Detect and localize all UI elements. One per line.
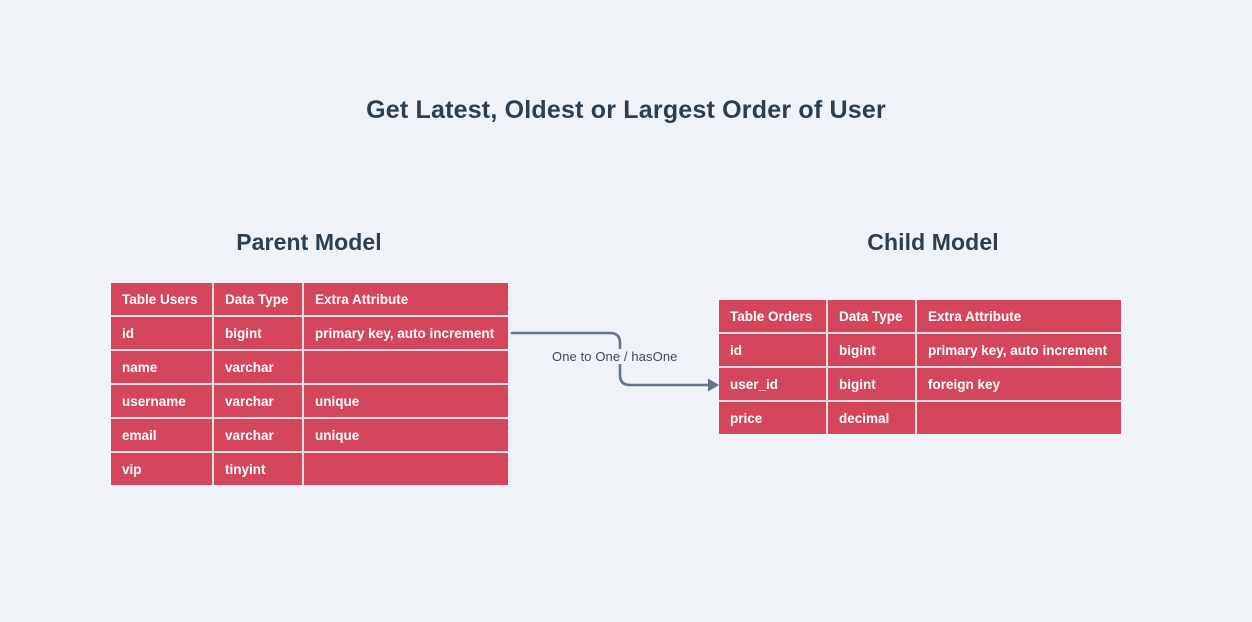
cell-field-name: id bbox=[719, 334, 826, 366]
table-row: vip tinyint bbox=[111, 453, 508, 485]
cell-data-type: bigint bbox=[828, 368, 915, 400]
cell-data-type: bigint bbox=[828, 334, 915, 366]
relationship-label: One to One / hasOne bbox=[548, 349, 681, 364]
table-row: price decimal bbox=[719, 402, 1121, 434]
cell-data-type: decimal bbox=[828, 402, 915, 434]
parent-model-heading: Parent Model bbox=[159, 229, 459, 256]
table-row: name varchar bbox=[111, 351, 508, 383]
child-model-heading: Child Model bbox=[783, 229, 1083, 256]
column-header-datatype: Data Type bbox=[828, 300, 915, 332]
table-header-row: Table Users Data Type Extra Attribute bbox=[111, 283, 508, 315]
table-row: username varchar unique bbox=[111, 385, 508, 417]
cell-field-name: username bbox=[111, 385, 212, 417]
child-table: Table Orders Data Type Extra Attribute i… bbox=[719, 300, 1121, 434]
cell-extra-attribute: foreign key bbox=[917, 368, 1121, 400]
table-row: id bigint primary key, auto increment bbox=[111, 317, 508, 349]
table-row: id bigint primary key, auto increment bbox=[719, 334, 1121, 366]
diagram-canvas: Get Latest, Oldest or Largest Order of U… bbox=[0, 0, 1252, 622]
cell-data-type: varchar bbox=[214, 419, 302, 451]
cell-field-name: user_id bbox=[719, 368, 826, 400]
table-row: email varchar unique bbox=[111, 419, 508, 451]
table-header-row: Table Orders Data Type Extra Attribute bbox=[719, 300, 1121, 332]
cell-extra-attribute bbox=[304, 351, 508, 383]
cell-extra-attribute: primary key, auto increment bbox=[304, 317, 508, 349]
cell-field-name: id bbox=[111, 317, 212, 349]
column-header-extra: Extra Attribute bbox=[304, 283, 508, 315]
cell-extra-attribute: unique bbox=[304, 419, 508, 451]
cell-data-type: bigint bbox=[214, 317, 302, 349]
column-header-name: Table Orders bbox=[719, 300, 826, 332]
column-header-name: Table Users bbox=[111, 283, 212, 315]
cell-field-name: email bbox=[111, 419, 212, 451]
cell-data-type: tinyint bbox=[214, 453, 302, 485]
cell-data-type: varchar bbox=[214, 385, 302, 417]
cell-extra-attribute bbox=[304, 453, 508, 485]
table-row: user_id bigint foreign key bbox=[719, 368, 1121, 400]
cell-field-name: vip bbox=[111, 453, 212, 485]
cell-field-name: name bbox=[111, 351, 212, 383]
cell-field-name: price bbox=[719, 402, 826, 434]
cell-extra-attribute: unique bbox=[304, 385, 508, 417]
column-header-extra: Extra Attribute bbox=[917, 300, 1121, 332]
parent-table: Table Users Data Type Extra Attribute id… bbox=[111, 283, 508, 485]
cell-extra-attribute bbox=[917, 402, 1121, 434]
column-header-datatype: Data Type bbox=[214, 283, 302, 315]
arrowhead-icon bbox=[708, 379, 719, 392]
cell-data-type: varchar bbox=[214, 351, 302, 383]
cell-extra-attribute: primary key, auto increment bbox=[917, 334, 1121, 366]
page-title: Get Latest, Oldest or Largest Order of U… bbox=[0, 96, 1252, 125]
